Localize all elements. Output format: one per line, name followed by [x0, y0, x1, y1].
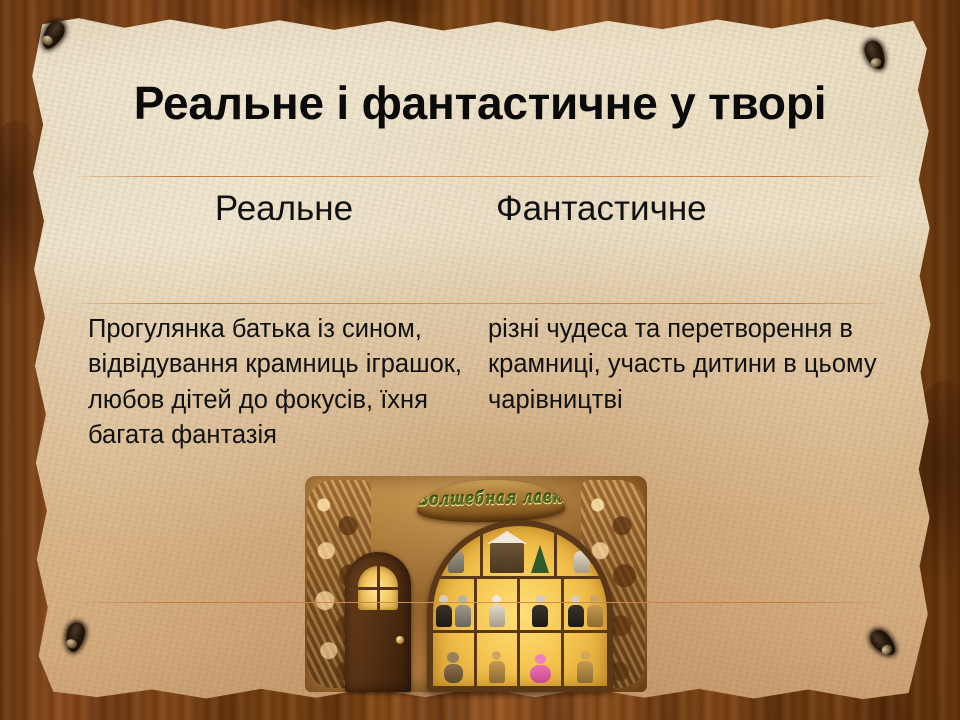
door-knob-icon	[396, 636, 404, 644]
window-row-bottom	[433, 633, 607, 686]
window-pane	[520, 633, 564, 686]
divider-under-headers	[78, 303, 882, 304]
toy-body	[587, 605, 603, 627]
divider-under-title	[78, 176, 882, 177]
toy-pink-elephant	[530, 654, 551, 683]
slide-canvas: Реальне і фантастичне у творі Реальне Фа…	[0, 0, 960, 720]
toy-head	[492, 651, 501, 660]
door-window-icon	[358, 566, 398, 610]
window-row-middle	[433, 579, 607, 632]
toy-snow-house	[487, 531, 527, 573]
column-header-fantastic: Фантастичне	[490, 189, 882, 229]
toy-head	[447, 652, 459, 663]
toy-body	[448, 551, 464, 573]
toy-body	[436, 605, 452, 627]
toy-figurine-tan	[489, 651, 505, 683]
window-pane	[564, 633, 608, 686]
shop-sign-text: Волшебная лавка	[417, 487, 565, 510]
window-pane	[477, 579, 521, 629]
window-pane	[433, 579, 477, 629]
shop-display-window	[427, 520, 613, 692]
toy-body	[455, 605, 471, 627]
toy-body	[530, 665, 551, 683]
window-pane	[477, 633, 521, 686]
window-pane	[520, 579, 564, 629]
window-pane	[433, 633, 477, 686]
toy-figurine-dark	[568, 595, 584, 627]
cell-real-description: Прогулянка батька із сином, відвідування…	[88, 312, 488, 454]
window-pane-grid	[433, 526, 607, 686]
window-pane	[564, 579, 608, 629]
cell-fantastic-description: різні чудеса та перетворення в крамниці,…	[488, 312, 888, 454]
toy-head	[581, 651, 590, 660]
toy-figurine-tan	[577, 651, 593, 683]
window-row-top	[433, 526, 607, 579]
toy-head	[578, 541, 587, 550]
toy-body	[444, 664, 463, 683]
toy-body	[532, 605, 548, 627]
window-pane	[483, 526, 558, 576]
toy-figurine-dark	[532, 595, 548, 627]
toy-figurine-dark	[436, 595, 452, 627]
toy-body	[568, 605, 584, 627]
tree-body	[531, 545, 549, 573]
toy-head	[535, 654, 546, 664]
page-title: Реальне і фантастичне у творі	[0, 76, 960, 130]
column-header-real: Реальне	[78, 189, 490, 229]
table-body-row: Прогулянка батька із сином, відвідування…	[88, 312, 888, 454]
shop-door	[345, 552, 411, 692]
magic-toy-shop-image: Волшебная лавка	[305, 476, 647, 692]
toy-figurine-grey	[448, 541, 464, 573]
toy-figurine-white	[574, 541, 590, 573]
table-header-row: Реальне Фантастичне	[78, 189, 882, 229]
slide-content: Реальне і фантастичне у творі Реальне Фа…	[0, 0, 960, 720]
divider-bottom	[78, 602, 882, 603]
toy-head	[452, 541, 461, 550]
toy-fir-tree	[531, 544, 549, 573]
window-pane	[433, 526, 483, 576]
toy-teddy-bear	[444, 652, 463, 683]
toy-body	[577, 661, 593, 683]
toy-figurine-grey	[455, 595, 471, 627]
toy-body	[489, 605, 505, 627]
house-body	[490, 543, 524, 573]
toy-figurine-white	[489, 595, 505, 627]
toy-body	[489, 661, 505, 683]
window-pane	[557, 526, 607, 576]
toy-figurine-tan	[587, 595, 603, 627]
toy-body	[574, 551, 590, 573]
